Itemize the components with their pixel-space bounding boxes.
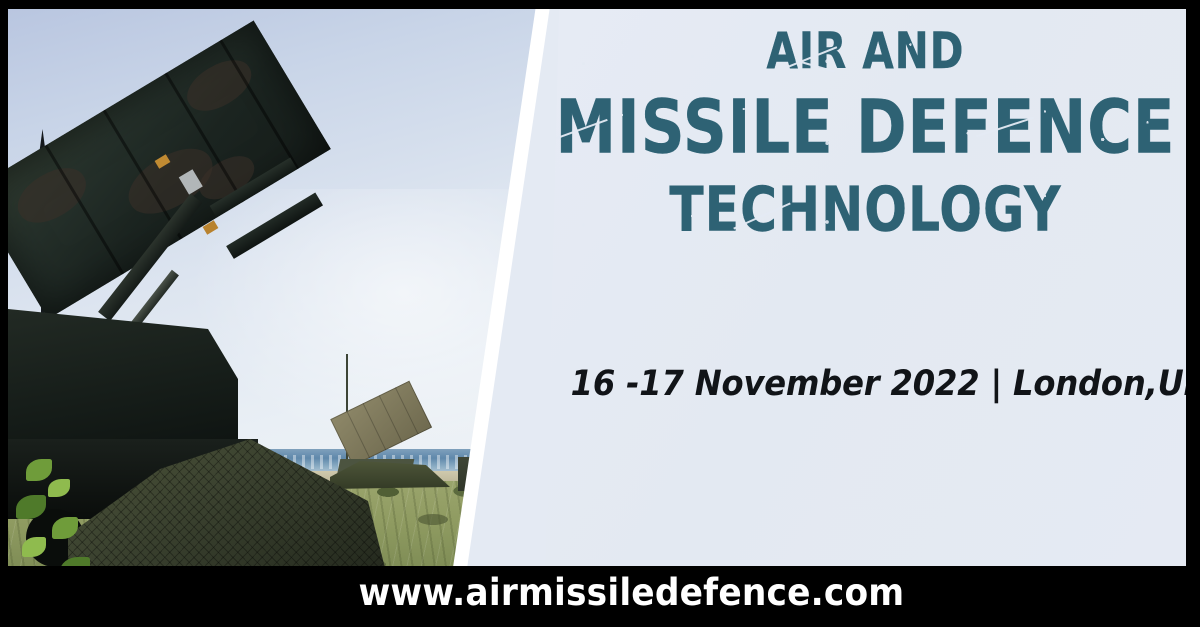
title-line-2-wrap: MISSILE DEFENCE xyxy=(545,98,1186,159)
distant-support-vehicle xyxy=(458,457,532,491)
title-line-3-wrap: TECHNOLOGY xyxy=(545,185,1186,235)
launcher-vehicle-body xyxy=(8,309,238,459)
banner-frame: AIR AND MISSILE DEFENCE TECHNOLOGY 16 -1… xyxy=(8,9,1186,619)
grass-clump xyxy=(418,514,448,525)
hero-photo xyxy=(8,9,568,619)
title-line-1-wrap: AIR AND xyxy=(545,31,1186,72)
title-block: AIR AND MISSILE DEFENCE TECHNOLOGY xyxy=(545,9,1186,235)
page-title-line-3: TECHNOLOGY xyxy=(545,179,1186,240)
page-title-line-2: MISSILE DEFENCE xyxy=(545,91,1186,165)
content-panel: AIR AND MISSILE DEFENCE TECHNOLOGY 16 -1… xyxy=(545,9,1186,566)
event-banner: AIR AND MISSILE DEFENCE TECHNOLOGY 16 -1… xyxy=(0,0,1200,627)
page-title-line-1: AIR AND xyxy=(545,27,1186,77)
event-date-location: 16 -17 November 2022 | London,UK xyxy=(571,364,1161,404)
website-url[interactable]: www.airmissiledefence.com xyxy=(49,566,1145,619)
